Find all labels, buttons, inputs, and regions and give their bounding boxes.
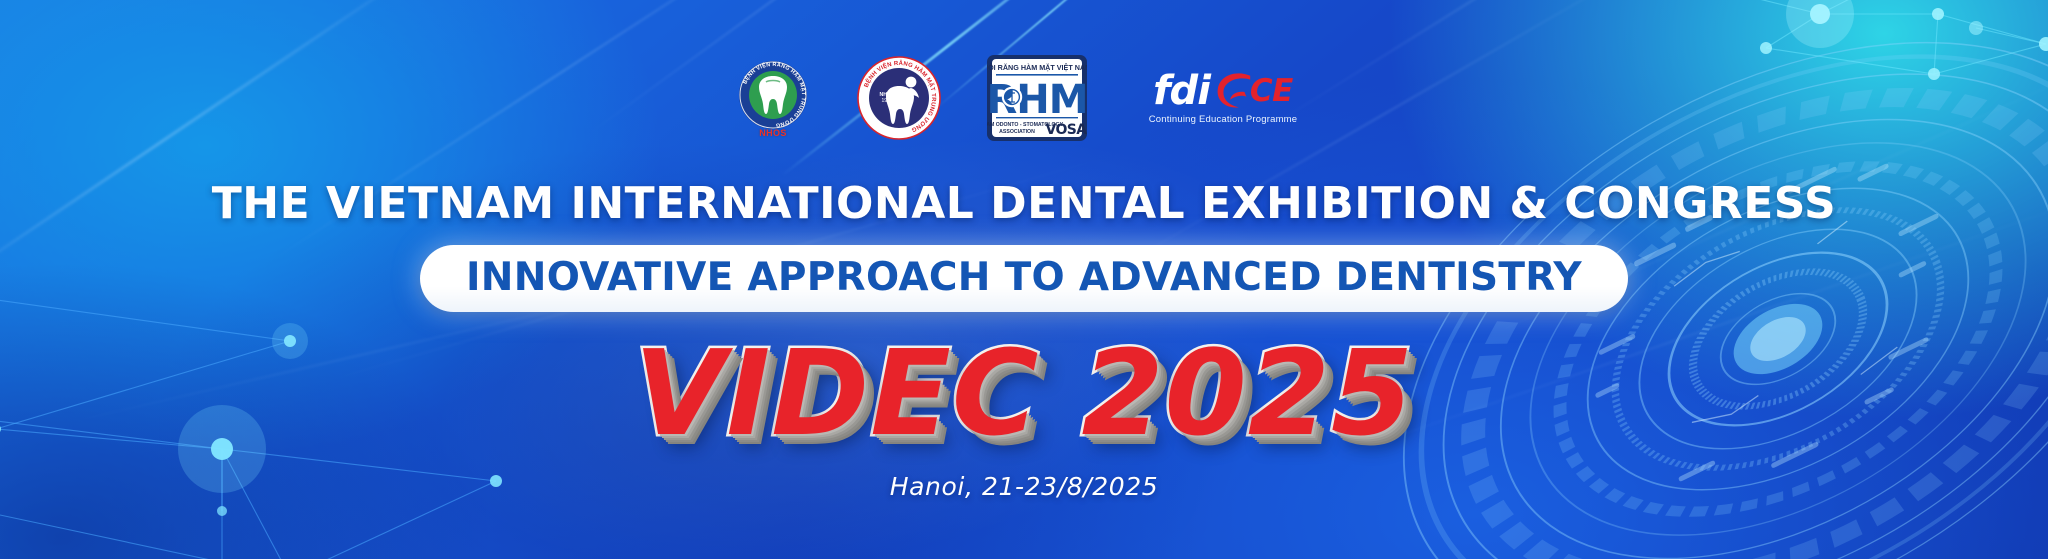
nhos-navy-seal-logo: BỆNH VIỆN RĂNG HÀM MẶT TRUNG ƯƠNG NHOS 1… [857,56,941,140]
tagline-pill: INNOVATIVE APPROACH TO ADVANCED DENTISTR… [420,245,1628,312]
fdi-subtitle: Continuing Education Programme [1149,114,1298,125]
banner-content: BỆNH VIỆN RĂNG HÀM MẶT TRUNG ƯƠNG NHOS [0,0,2048,559]
event-banner: BỆNH VIỆN RĂNG HÀM MẶT TRUNG ƯƠNG NHOS [0,0,2048,559]
svg-text:RHM: RHM [987,77,1087,123]
banner-headline: THE VIETNAM INTERNATIONAL DENTAL EXHIBIT… [212,178,1836,229]
event-date-location: Hanoi, 21-23/8/2025 [890,472,1159,501]
rhm-vosa-logo: HỘI RĂNG HÀM MẶT VIỆT NAM RHM VIETNAM OD… [987,55,1087,141]
fdi-wordmark: fdi [1153,71,1210,111]
tagline-text: INNOVATIVE APPROACH TO ADVANCED DENTISTR… [466,258,1582,297]
partner-logo-row: BỆNH VIỆN RĂNG HÀM MẶT TRUNG ƯƠNG NHOS [735,52,1313,144]
event-title: VIDEC 2025 [634,334,1414,452]
svg-text:HỘI RĂNG HÀM MẶT VIỆT NAM: HỘI RĂNG HÀM MẶT VIỆT NAM [987,63,1087,72]
tooth-family-seal-icon: BỆNH VIỆN RĂNG HÀM MẶT TRUNG ƯƠNG NHOS 1… [857,56,941,140]
nhos-green-tooth-logo: BỆNH VIỆN RĂNG HÀM MẶT TRUNG ƯƠNG NHOS [735,52,811,144]
tooth-roundel-icon: BỆNH VIỆN RĂNG HÀM MẶT TRUNG ƯƠNG [737,59,809,131]
fdi-ce-icon: fdi CE [1153,71,1293,111]
fdi-ce-logo: fdi CE Continuing Education Programme [1133,63,1313,133]
svg-text:ASSOCIATION: ASSOCIATION [999,129,1035,135]
svg-text:VOSA: VOSA [1045,122,1087,138]
fdi-ce-abbrev: CE [1250,76,1293,107]
rhm-card-icon: HỘI RĂNG HÀM MẶT VIỆT NAM RHM VIETNAM OD… [987,55,1087,141]
